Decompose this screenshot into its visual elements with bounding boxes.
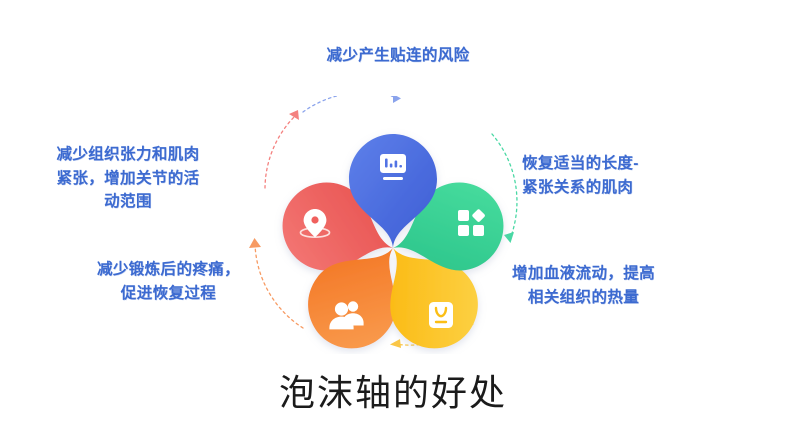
callout-label-right: 恢复适当的长度- 紧张关系的肌肉: [522, 152, 752, 199]
five-petal-flower-diagram: [243, 96, 543, 354]
callout-label-top: 减少产生贴连的风险: [248, 44, 548, 68]
slide-canvas: 减少产生贴连的风险 减少组织张力和肌肉 紧张，增加关节的活 动范围 恢复适当的长…: [0, 0, 786, 441]
callout-label-left: 减少组织张力和肌肉 紧张，增加关节的活 动范围: [22, 143, 234, 214]
flower-svg: [243, 96, 543, 354]
slide-title: 泡沫轴的好处: [0, 364, 786, 416]
flow-arrow-left: [265, 110, 299, 188]
callout-label-bottom-right: 增加血液流动，提高 相关组织的热量: [476, 262, 691, 309]
callout-label-bottom-left: 减少锻炼后的疼痛， 促进恢复过程: [56, 258, 281, 305]
flow-arrow-top: [303, 96, 401, 112]
shopping-bag-icon: [429, 302, 453, 328]
